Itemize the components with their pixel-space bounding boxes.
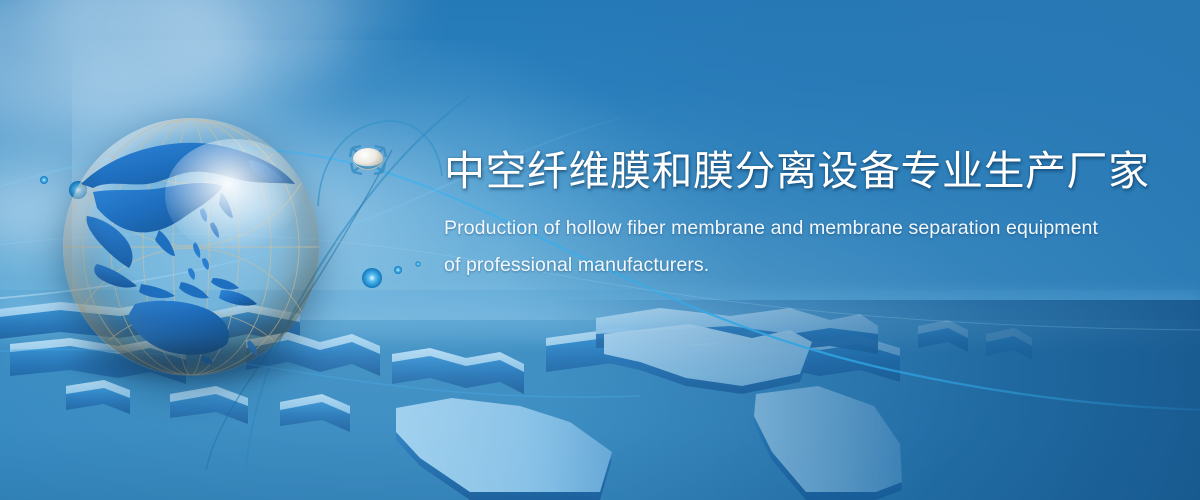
- globe-illustration: [63, 118, 319, 376]
- globe-shadow: [65, 340, 317, 384]
- subtitle-line-1: Production of hollow fiber membrane and …: [444, 210, 1179, 247]
- orbit-node: [40, 176, 48, 184]
- globe-highlight: [165, 139, 303, 253]
- banner-copy: 中空纤维膜和膜分离设备专业生产厂家 Production of hollow f…: [444, 146, 1196, 284]
- orbit-node: [394, 266, 402, 274]
- globe-sphere: [63, 118, 319, 376]
- orbit-node: [415, 261, 420, 266]
- hero-banner: 中空纤维膜和膜分离设备专业生产厂家 Production of hollow f…: [0, 0, 1200, 500]
- orbit-node: [362, 268, 382, 288]
- page-subtitle: Production of hollow fiber membrane and …: [444, 210, 1179, 284]
- satellite-icon: [340, 132, 396, 188]
- page-title: 中空纤维膜和膜分离设备专业生产厂家: [444, 146, 1196, 196]
- subtitle-line-2: of professional manufacturers.: [444, 247, 1179, 284]
